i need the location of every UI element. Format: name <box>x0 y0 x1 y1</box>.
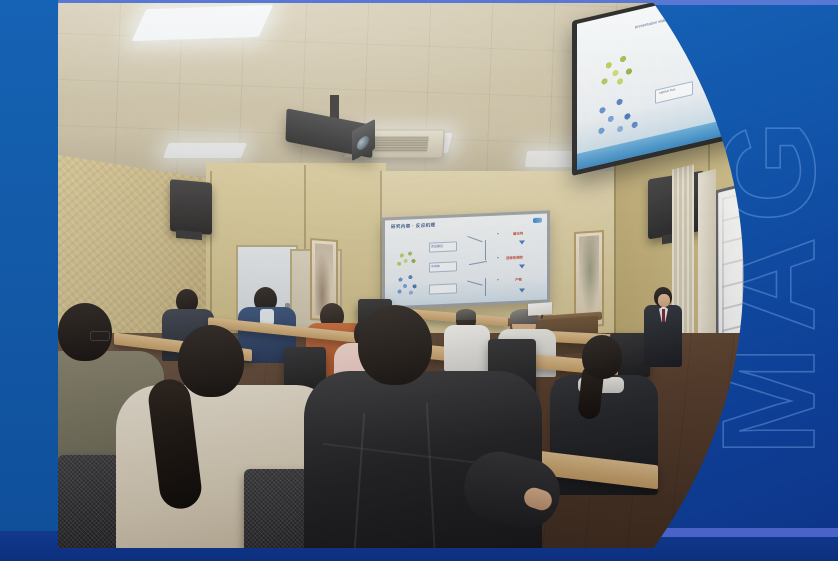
slide-highlight-red: 催化剂 <box>513 231 523 236</box>
slide-triangle-icon <box>519 288 525 292</box>
projection-screen: 研究内容 · 反应机理 反应路径 中间体 催化剂 选择性调控 产物 ● ● ● <box>385 213 547 306</box>
slide-bullet: ● <box>497 256 499 260</box>
lab-logo-icon <box>533 218 542 223</box>
tv-slide-caption: presentation slide <box>635 17 666 29</box>
slide-text-box-label: 中间体 <box>431 264 440 268</box>
eyeglasses-icon <box>90 331 110 341</box>
slide-bullet: ● <box>497 278 499 282</box>
molecule-green-icon <box>597 48 639 94</box>
attendee-right-row <box>582 335 622 379</box>
paper-sheet <box>528 302 552 316</box>
screenshot-canvas: MAG <box>0 0 838 561</box>
presenter-tie <box>662 309 665 322</box>
reaction-arrow <box>485 240 486 260</box>
slide-text-box <box>429 283 457 294</box>
molecule-blue-icon <box>591 89 643 145</box>
reaction-arrow <box>467 280 482 285</box>
slide-bullet: ● <box>497 232 499 236</box>
slide-title: 研究内容 · 反应机理 <box>391 222 435 230</box>
slide-triangle-icon <box>519 264 525 268</box>
slide-triangle-icon <box>519 240 525 244</box>
reaction-arrow <box>467 236 482 242</box>
slide-highlight-red: 选择性调控 <box>506 255 523 261</box>
molecule-blue-icon <box>393 271 423 298</box>
reaction-arrow <box>469 261 487 265</box>
attendee-foreground-center <box>178 325 244 397</box>
attendee-white-shirt-hair <box>456 309 476 320</box>
attendee-foreground-right <box>358 305 432 385</box>
wall-speaker-left <box>170 179 212 235</box>
reaction-arrow <box>485 278 486 296</box>
presenter-face <box>658 294 670 307</box>
slide-text-box-label: 反应路径 <box>431 244 443 249</box>
slide-highlight-red: 产物 <box>515 277 522 282</box>
seminar-room-photo: presentation slide caption box 研究内容 · 反应… <box>58 3 772 548</box>
attendee-white-shirt-torso <box>444 325 490 371</box>
molecule-green-icon <box>394 247 420 270</box>
